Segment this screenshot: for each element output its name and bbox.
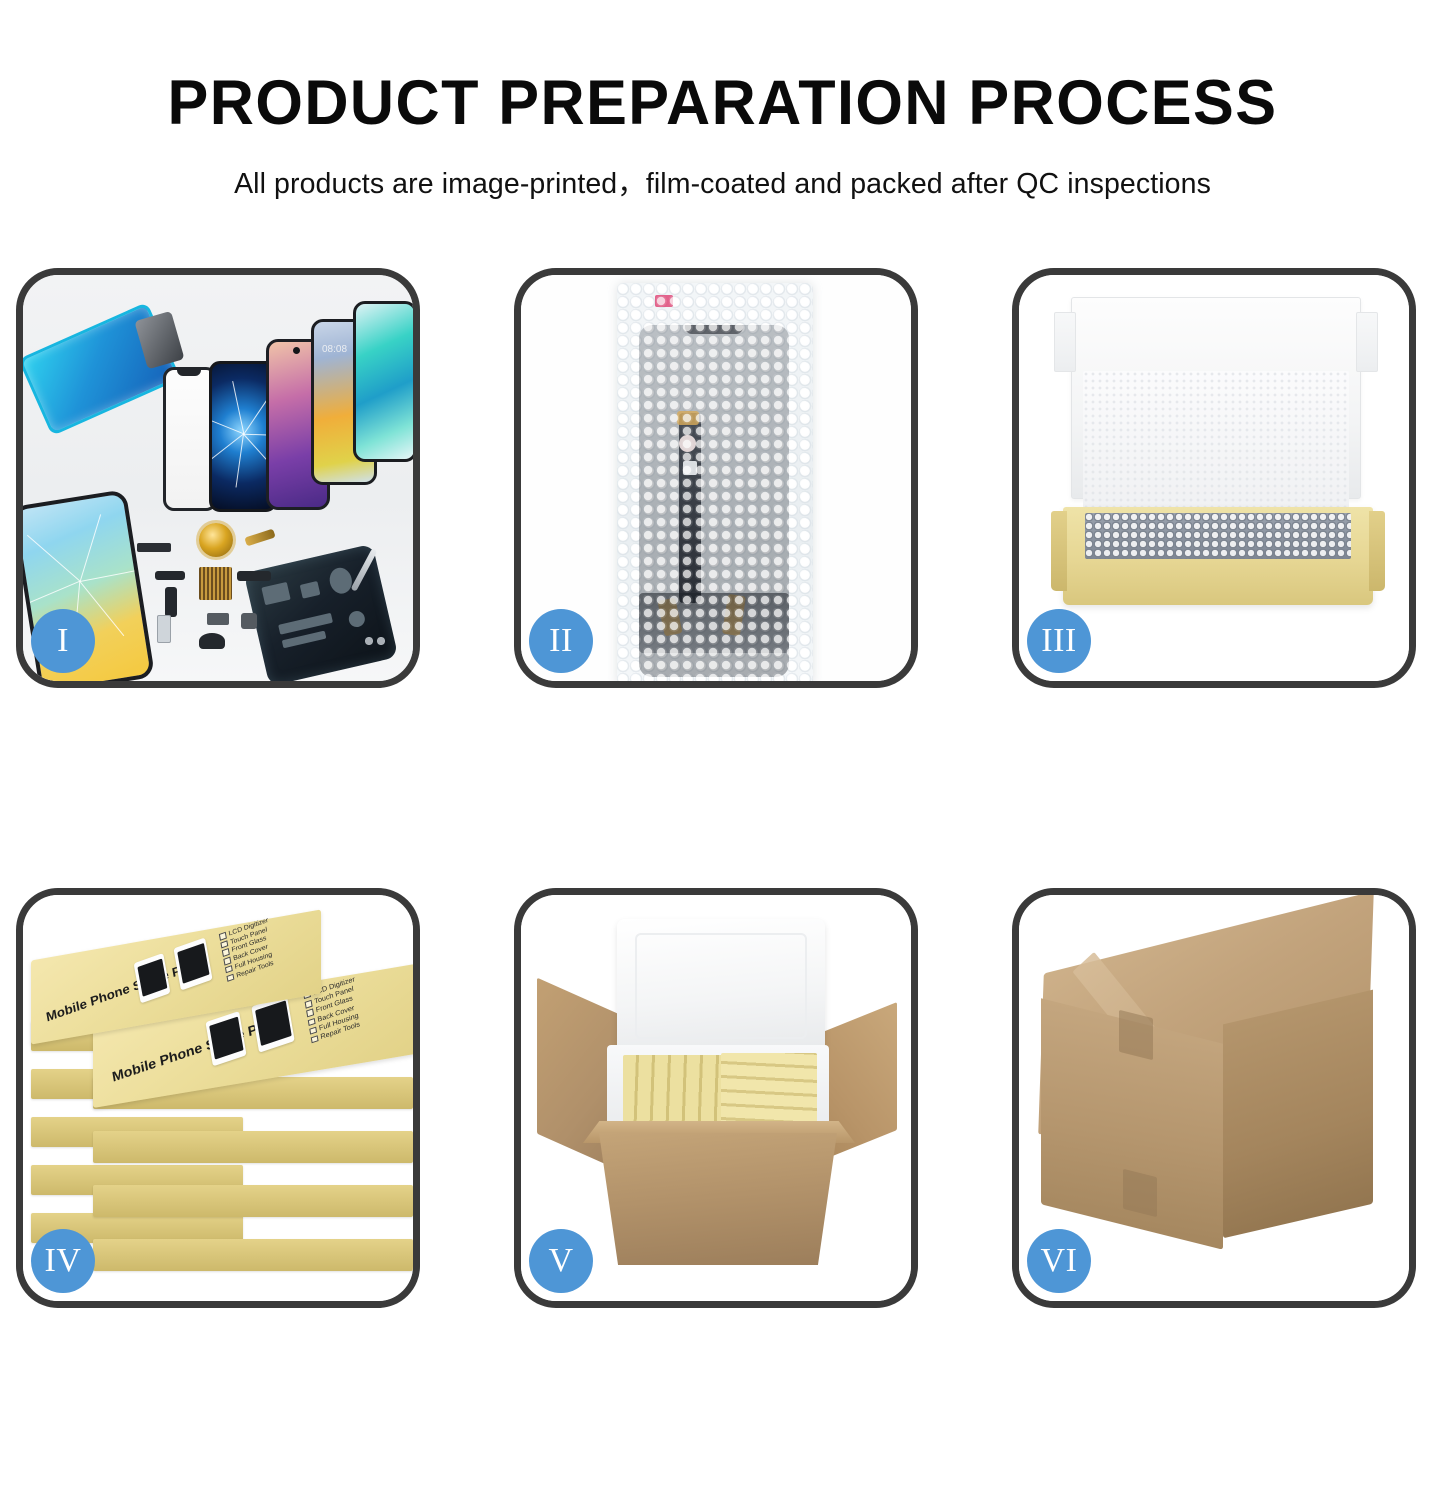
foam-sheet xyxy=(1083,371,1349,511)
step-badge-1: I xyxy=(31,609,95,673)
step-badge-5: V xyxy=(529,1229,593,1293)
yellow-box-tray xyxy=(1063,507,1373,605)
bubble-wrap-bag xyxy=(617,283,813,681)
carton-tape-patch-2 xyxy=(1123,1169,1157,1217)
foam-cooler-lid xyxy=(617,919,825,1059)
step-panel-5[interactable]: V xyxy=(514,888,918,1308)
carton-body xyxy=(599,1133,837,1265)
box-label-phone-img-1 xyxy=(205,1011,246,1066)
process-steps-grid: 08:08 xyxy=(14,268,1431,1508)
wireless-charging-coil xyxy=(199,523,233,557)
step-badge-4: IV xyxy=(31,1229,95,1293)
flex-cable-2 xyxy=(155,571,185,580)
screws-set xyxy=(363,635,393,647)
wrapped-board-bottom xyxy=(639,593,789,653)
step-badge-2: II xyxy=(529,609,593,673)
step-panel-2[interactable]: II xyxy=(514,268,918,688)
phone-back-housing xyxy=(244,544,399,681)
flex-cable-1 xyxy=(237,571,271,581)
step-badge-6: VI xyxy=(1027,1229,1091,1293)
step-panel-3[interactable]: III xyxy=(1012,268,1416,688)
header: PRODUCT PREPARATION PROCESS All products… xyxy=(0,0,1445,250)
box-label-phone-img-3 xyxy=(134,953,171,1003)
blue-lcd-frame xyxy=(23,302,181,436)
teal-display-phone xyxy=(353,301,413,462)
wrapped-ic-chip xyxy=(683,461,697,475)
stack-slab-right-3 xyxy=(93,1131,413,1163)
earpiece-module xyxy=(199,633,225,649)
sealed-carton-front xyxy=(1041,998,1223,1249)
process-row-bottom: Mobile Phone Spare Parts LCD Digitizer T… xyxy=(14,888,1431,1320)
qc-sticker xyxy=(655,295,673,307)
sealed-carton-side xyxy=(1223,990,1373,1239)
gold-flex-cable-1 xyxy=(244,529,275,547)
step-badge-3: III xyxy=(1027,609,1091,673)
box-label-phone-img-4 xyxy=(173,937,212,990)
wrapped-camera-ring xyxy=(679,435,696,452)
yellow-boxes-row-2 xyxy=(721,1053,817,1131)
step-panel-6[interactable]: VI xyxy=(1012,888,1416,1308)
box-label-checklist-back: LCD Digitizer Touch Panel Front Glass Ba… xyxy=(219,917,277,984)
stack-slab-right-4 xyxy=(93,1185,413,1217)
bubble-wrapped-contents xyxy=(1085,513,1351,559)
step-panel-1[interactable]: 08:08 xyxy=(16,268,420,688)
page-title: PRODUCT PREPARATION PROCESS xyxy=(22,0,1424,135)
ic-chip-grid xyxy=(199,567,232,600)
flex-cable-3 xyxy=(165,587,177,617)
stack-slab-right-5 xyxy=(93,1239,413,1271)
vibration-motor xyxy=(207,613,229,625)
sim-tray xyxy=(157,615,171,643)
page-subtitle: All products are image-printed，film-coat… xyxy=(0,135,1445,202)
carton-tape-patch-1 xyxy=(1119,1010,1153,1060)
wrapped-connector-top xyxy=(677,411,699,425)
phone-clock-label: 08:08 xyxy=(322,344,347,355)
step-panel-4[interactable]: Mobile Phone Spare Parts LCD Digitizer T… xyxy=(16,888,420,1308)
process-row-top: 08:08 xyxy=(14,268,1431,700)
camera-module xyxy=(241,613,257,629)
speaker-module xyxy=(137,543,171,552)
